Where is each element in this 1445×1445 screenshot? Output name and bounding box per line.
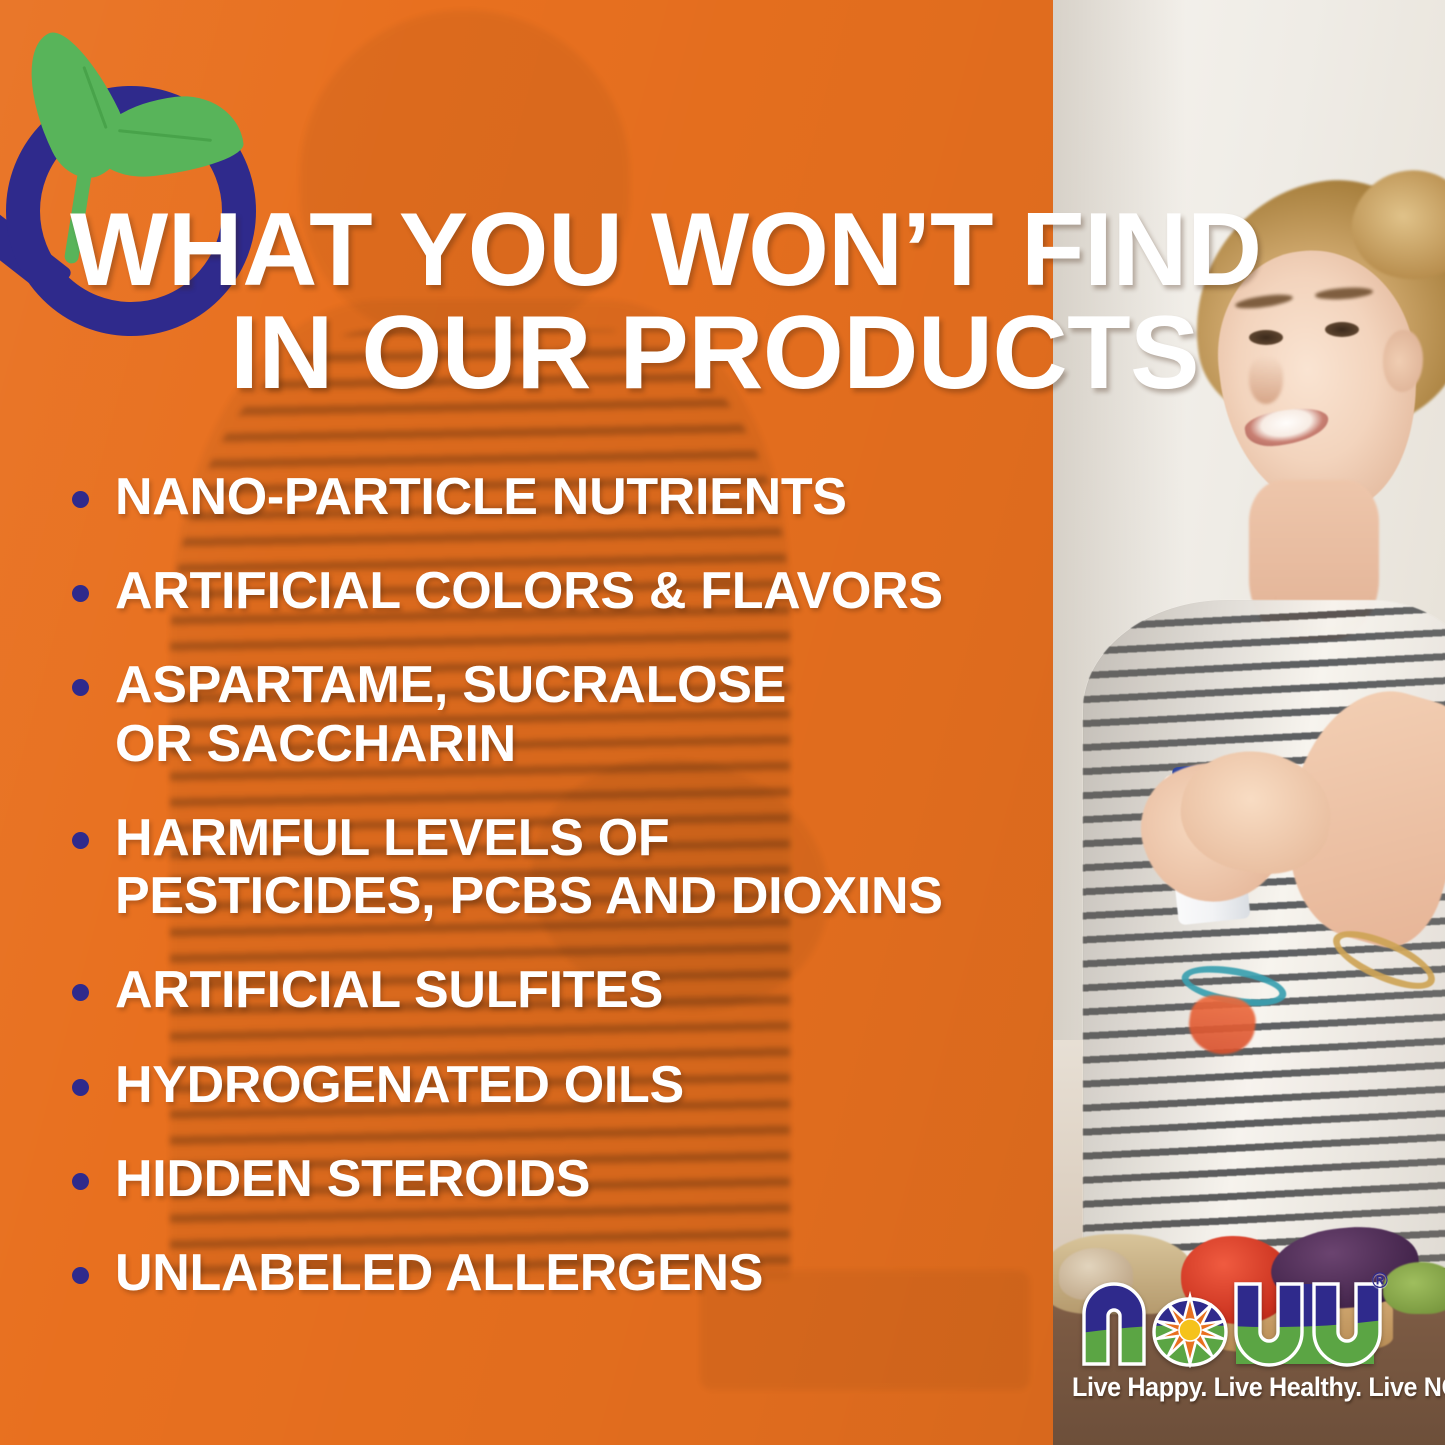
list-item-label: NANO-PARTICLE NUTRIENTS bbox=[115, 468, 847, 526]
headline-line-1: WHAT YOU WON’T FIND bbox=[70, 202, 1410, 300]
list-item-label: ARTIFICIAL SULFITES bbox=[115, 961, 663, 1019]
list-item: ARTIFICIAL COLORS & FLAVORS bbox=[72, 562, 1032, 620]
list-item: ARTIFICIAL SULFITES bbox=[72, 961, 1032, 1019]
list-item-label: UNLABELED ALLERGENS bbox=[115, 1244, 763, 1302]
headline-text-find: FIND bbox=[993, 192, 1262, 308]
list-item: NANO-PARTICLE NUTRIENTS bbox=[72, 468, 1032, 526]
bullet-dot-icon bbox=[72, 984, 89, 1001]
list-item: HIDDEN STEROIDS bbox=[72, 1150, 1032, 1208]
list-item: HYDROGENATED OILS bbox=[72, 1056, 1032, 1114]
page-title: WHAT YOU WON’T FIND IN OUR PRODUCTS bbox=[70, 202, 1410, 404]
bullet-dot-icon bbox=[72, 1079, 89, 1096]
now-wordmark-svg bbox=[1074, 1268, 1384, 1368]
list-item: ASPARTAME, SUCRALOSE OR SACCHARIN bbox=[72, 656, 1032, 772]
registered-trademark-icon: ® bbox=[1372, 1268, 1388, 1294]
brand-tagline: Live Happy. Live Healthy. Live NOW. bbox=[1072, 1372, 1388, 1403]
list-item: UNLABELED ALLERGENS bbox=[72, 1244, 1032, 1302]
headline-line-2: IN OUR PRODUCTS bbox=[230, 305, 1410, 403]
bullet-dot-icon bbox=[72, 679, 89, 696]
sun-center bbox=[1179, 1319, 1201, 1341]
list-item: HARMFUL LEVELS OF PESTICIDES, PCBS AND D… bbox=[72, 809, 1032, 925]
excluded-ingredients-list: NANO-PARTICLE NUTRIENTS ARTIFICIAL COLOR… bbox=[72, 468, 1032, 1338]
bullet-dot-icon bbox=[72, 832, 89, 849]
bullet-dot-icon bbox=[72, 1267, 89, 1284]
list-item-label: HARMFUL LEVELS OF PESTICIDES, PCBS AND D… bbox=[115, 809, 943, 925]
headline-emphasis-wont: WON’T bbox=[651, 192, 993, 308]
poster-root: WHAT YOU WON’T FIND IN OUR PRODUCTS NANO… bbox=[0, 0, 1445, 1445]
bullet-dot-icon bbox=[72, 1173, 89, 1190]
now-wordmark: ® bbox=[1074, 1268, 1384, 1368]
list-item-label: ASPARTAME, SUCRALOSE OR SACCHARIN bbox=[115, 656, 786, 772]
headline-text-what-you: WHAT YOU bbox=[70, 192, 651, 308]
now-brand-logo: ® Live Happy. Live Healthy. Live NOW. bbox=[1072, 1268, 1412, 1428]
bullet-dot-icon bbox=[72, 585, 89, 602]
list-item-label: ARTIFICIAL COLORS & FLAVORS bbox=[115, 562, 943, 620]
list-item-label: HIDDEN STEROIDS bbox=[115, 1150, 590, 1208]
list-item-label: HYDROGENATED OILS bbox=[115, 1056, 684, 1114]
bullet-dot-icon bbox=[72, 491, 89, 508]
